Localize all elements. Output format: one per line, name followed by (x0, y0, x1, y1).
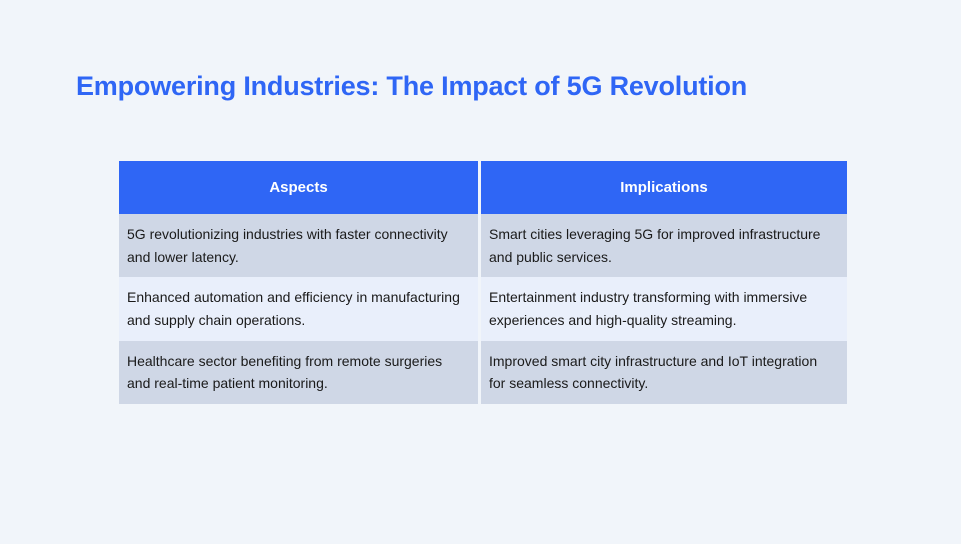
page-title: Empowering Industries: The Impact of 5G … (76, 70, 747, 102)
cell-aspects: 5G revolutionizing industries with faste… (119, 214, 481, 277)
comparison-table: Aspects Implications 5G revolutionizing … (119, 161, 847, 404)
cell-aspects: Enhanced automation and efficiency in ma… (119, 277, 481, 340)
cell-implications: Entertainment industry transforming with… (481, 277, 847, 340)
table-header: Aspects Implications (119, 161, 847, 214)
slide-canvas: Empowering Industries: The Impact of 5G … (0, 0, 961, 544)
comparison-table-container: Aspects Implications 5G revolutionizing … (119, 161, 847, 404)
column-header-implications: Implications (481, 161, 847, 214)
table-body: 5G revolutionizing industries with faste… (119, 214, 847, 404)
table-row: Healthcare sector benefiting from remote… (119, 341, 847, 404)
table-header-row: Aspects Implications (119, 161, 847, 214)
cell-implications: Smart cities leveraging 5G for improved … (481, 214, 847, 277)
table-row: 5G revolutionizing industries with faste… (119, 214, 847, 277)
cell-implications: Improved smart city infrastructure and I… (481, 341, 847, 404)
table-row: Enhanced automation and efficiency in ma… (119, 277, 847, 340)
column-header-aspects: Aspects (119, 161, 481, 214)
cell-aspects: Healthcare sector benefiting from remote… (119, 341, 481, 404)
